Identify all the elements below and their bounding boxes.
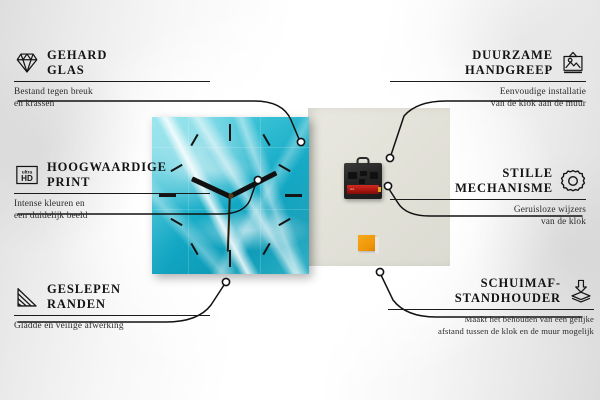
connector-dot-hd bbox=[254, 176, 261, 183]
desc-line-2: van de klok bbox=[390, 216, 586, 228]
hanging-picture-icon bbox=[560, 50, 586, 76]
title-line-1: DUURZAME bbox=[465, 48, 553, 63]
bevelled-edge-icon bbox=[14, 284, 40, 310]
press-stack-icon bbox=[568, 278, 594, 304]
connector-dot-gehard bbox=[297, 138, 304, 145]
desc-line-1: Eenvoudige installatie bbox=[390, 86, 586, 98]
feature-description: Eenvoudige installatie van de klok aan d… bbox=[390, 86, 586, 111]
connector-dot-handgreep bbox=[386, 154, 393, 161]
desc-line-2: afstand tussen de klok en de muur mogeli… bbox=[388, 326, 594, 338]
svg-text:HD: HD bbox=[21, 174, 33, 183]
desc-line-1: Maakt het behouden van een gelijke bbox=[388, 314, 594, 326]
clock-hand-hub bbox=[228, 193, 233, 198]
ultra-hd-icon: ultra HD bbox=[14, 162, 40, 188]
title-line-1: HOOGWAARDIGE bbox=[47, 160, 167, 175]
feature-description: Maakt het behouden van een gelijke afsta… bbox=[388, 314, 594, 337]
title-line-1: STILLE bbox=[455, 166, 553, 181]
desc-line-1: Bestand tegen breuk bbox=[14, 86, 210, 98]
feature-title: DUURZAME HANDGREEP bbox=[465, 48, 553, 77]
feature-description: Intense kleuren en een duidelijk beeld bbox=[14, 198, 210, 223]
feature-geslepen-randen[interactable]: GESLEPEN RANDEN Gladde en veilige afwerk… bbox=[14, 282, 210, 332]
feature-duurzame-handgreep[interactable]: DUURZAME HANDGREEP Eenvoudige installati… bbox=[390, 48, 586, 111]
desc-line-2: van de klok aan de muur bbox=[390, 98, 586, 110]
divider bbox=[388, 309, 594, 310]
feature-description: Gladde en veilige afwerking bbox=[14, 320, 210, 332]
feature-title: GEHARD GLAS bbox=[47, 48, 107, 77]
title-line-2: MECHANISME bbox=[455, 181, 553, 196]
desc-line-1: Geruisloze wijzers bbox=[390, 204, 586, 216]
title-line-1: SCHUIMAF- bbox=[455, 276, 561, 291]
feature-hoogwaardige-print[interactable]: ultra HD HOOGWAARDIGE PRINT Intense kleu… bbox=[14, 160, 210, 223]
gear-icon bbox=[560, 168, 586, 194]
divider bbox=[14, 81, 210, 82]
connector-dot-houder bbox=[376, 268, 383, 275]
title-line-2: PRINT bbox=[47, 175, 167, 190]
connector-dot-randen bbox=[222, 278, 229, 285]
desc-line-1: Gladde en veilige afwerking bbox=[14, 320, 210, 332]
infographic-canvas: AA bbox=[0, 0, 600, 400]
feature-description: Geruisloze wijzers van de klok bbox=[390, 204, 586, 229]
title-line-2: HANDGREEP bbox=[465, 63, 553, 78]
title-line-2: GLAS bbox=[47, 63, 107, 78]
desc-line-1: Intense kleuren en bbox=[14, 198, 210, 210]
divider bbox=[390, 81, 586, 82]
feature-description: Bestand tegen breuk en krassen bbox=[14, 86, 210, 111]
feature-gehard-glas[interactable]: GEHARD GLAS Bestand tegen breuk en krass… bbox=[14, 48, 210, 111]
divider bbox=[390, 199, 586, 200]
title-line-1: GESLEPEN bbox=[47, 282, 121, 297]
title-line-2: STANDHOUDER bbox=[455, 291, 561, 306]
feature-title: GESLEPEN RANDEN bbox=[47, 282, 121, 311]
desc-line-2: en krassen bbox=[14, 98, 210, 110]
feature-stille-mechanisme[interactable]: STILLE MECHANISME Geruisloze wijzers van… bbox=[390, 166, 586, 229]
feature-title: STILLE MECHANISME bbox=[455, 166, 553, 195]
desc-line-2: een duidelijk beeld bbox=[14, 210, 210, 222]
divider bbox=[14, 315, 210, 316]
title-line-1: GEHARD bbox=[47, 48, 107, 63]
feature-schuimafstandhouder[interactable]: SCHUIMAF- STANDHOUDER Maakt het behouden… bbox=[388, 276, 594, 337]
feature-title: SCHUIMAF- STANDHOUDER bbox=[455, 276, 561, 305]
feature-title: HOOGWAARDIGE PRINT bbox=[47, 160, 167, 189]
divider bbox=[14, 193, 210, 194]
title-line-2: RANDEN bbox=[47, 297, 121, 312]
diamond-icon bbox=[14, 50, 40, 76]
